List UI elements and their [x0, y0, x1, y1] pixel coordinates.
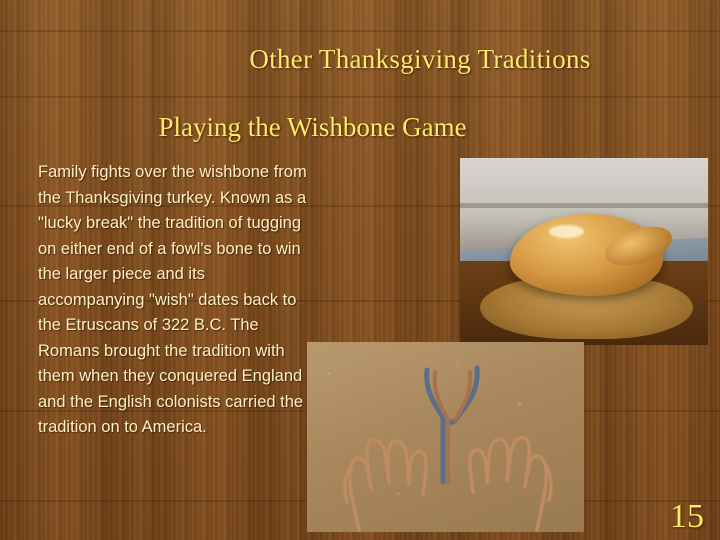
wishbone-drawing-icon [307, 342, 584, 532]
page-number: 15 [670, 498, 704, 536]
roast-turkey-photo [460, 158, 708, 345]
slide-canvas: Other Thanksgiving Traditions Playing th… [0, 0, 720, 540]
slide-subtitle: Playing the Wishbone Game [0, 112, 720, 143]
slide-title: Other Thanksgiving Traditions [0, 44, 720, 75]
wishbone-hands-drawing-photo [307, 342, 584, 532]
photo-wall-seam [460, 203, 708, 208]
slide-body-text: Family fights over the wishbone from the… [38, 160, 310, 441]
